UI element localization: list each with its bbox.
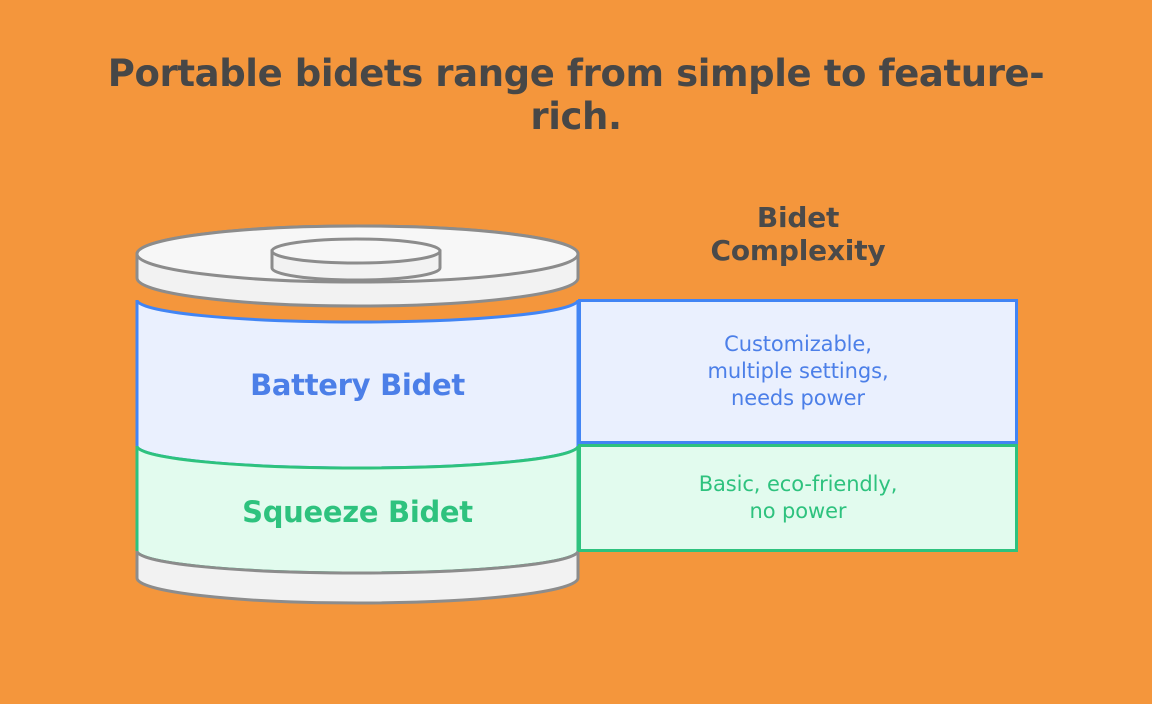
cylinder-label-battery-bidet: Battery Bidet <box>137 368 578 402</box>
info-box-squeeze-complexity: Basic, eco-friendly, no power <box>578 444 1018 552</box>
cylinder-label-squeeze-bidet: Squeeze Bidet <box>137 495 578 529</box>
cylinder-cap-top <box>272 239 440 263</box>
info-box-squeeze-text: Basic, eco-friendly, no power <box>699 471 898 525</box>
info-box-battery-text: Customizable, multiple settings, needs p… <box>707 331 888 412</box>
infographic-canvas: Portable bidets range from simple to fea… <box>0 0 1152 704</box>
info-box-battery-complexity: Customizable, multiple settings, needs p… <box>578 299 1018 444</box>
